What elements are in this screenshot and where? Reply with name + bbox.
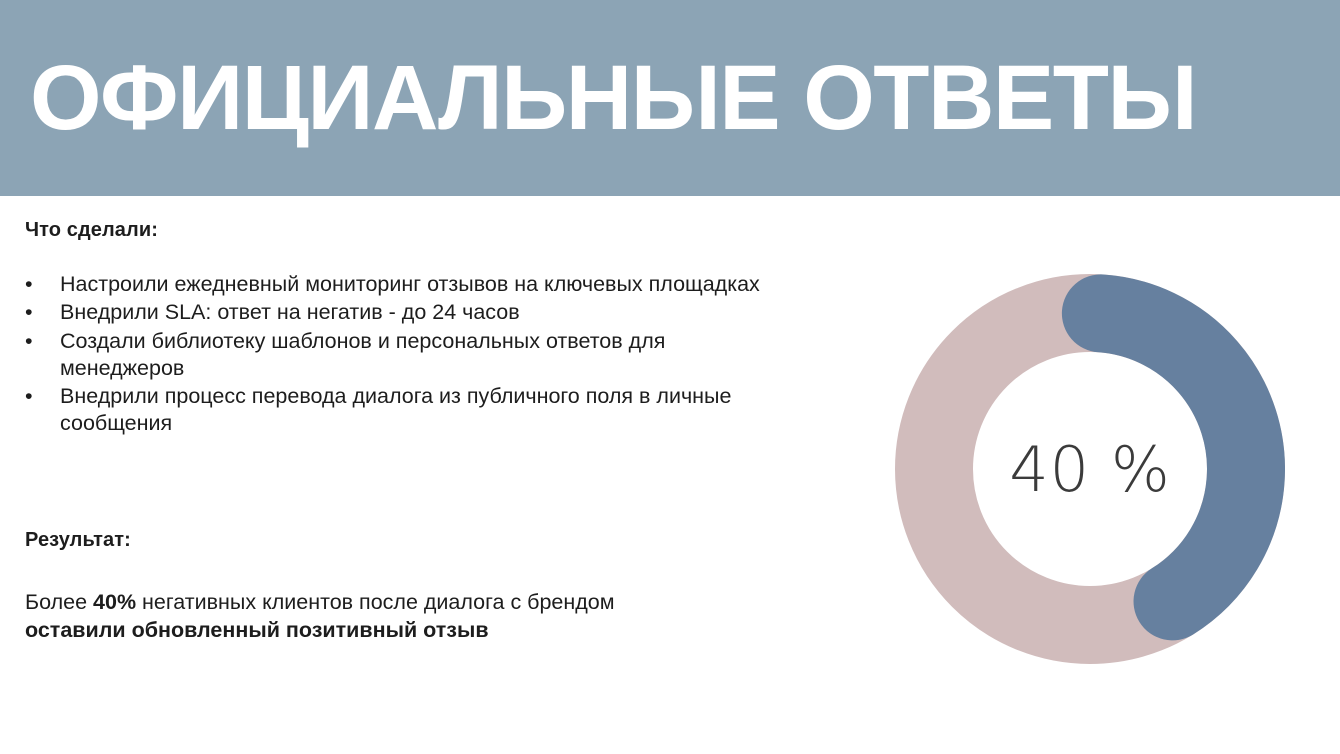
list-item-text: Настроили ежедневный мониторинг отзывов … [60,272,760,296]
section-label-what: Что сделали: [25,219,158,242]
list-item-text: Создали библиотеку шаблонов и персональн… [60,329,665,380]
bullet-marker-icon: • [25,299,33,326]
list-item: • Внедрили процесс перевода диалога из п… [25,383,795,438]
header-banner: ОФИЦИАЛЬНЫЕ ОТВЕТЫ [0,0,1340,196]
donut-chart: 40 % [895,274,1285,664]
actions-bullet-list: • Настроили ежедневный мониторинг отзыво… [25,271,795,439]
list-item-text: Внедрили процесс перевода диалога из пуб… [60,384,731,435]
page-title: ОФИЦИАЛЬНЫЕ ОТВЕТЫ [0,52,1196,144]
result-prefix: Более [25,590,93,614]
result-text-block: Более 40% негативных клиентов после диал… [25,589,785,645]
donut-chart-svg [895,274,1285,664]
bullet-marker-icon: • [25,271,33,298]
list-item: • Создали библиотеку шаблонов и персонал… [25,328,795,383]
content-column-left: Что сделали: • Настроили ежедневный мони… [25,196,835,754]
result-line-2: оставили обновленный позитивный отзыв [25,617,785,645]
result-highlight-value: 40% [93,590,136,614]
bullet-marker-icon: • [25,328,33,355]
bullet-marker-icon: • [25,383,33,410]
list-item: • Внедрили SLA: ответ на негатив - до 24… [25,299,795,326]
result-line-1: Более 40% негативных клиентов после диал… [25,589,785,617]
result-suffix: негативных клиентов после диалога с брен… [136,590,614,614]
list-item: • Настроили ежедневный мониторинг отзыво… [25,271,795,298]
list-item-text: Внедрили SLA: ответ на негатив - до 24 ч… [60,300,520,324]
section-label-result: Результат: [25,529,131,552]
slide-root: ОФИЦИАЛЬНЫЕ ОТВЕТЫ Что сделали: • Настро… [0,0,1340,754]
